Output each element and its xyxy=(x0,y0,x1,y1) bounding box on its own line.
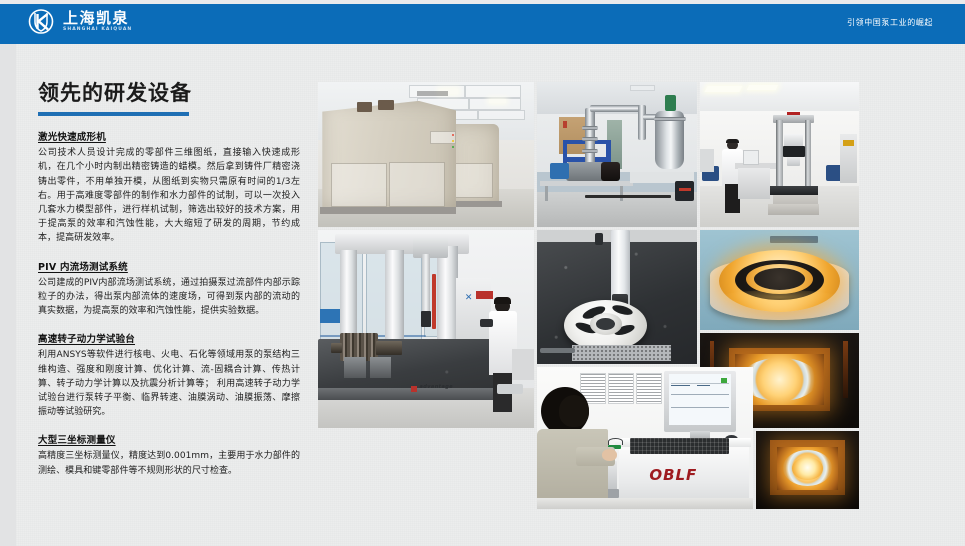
photo-cmm-impeller-scan xyxy=(537,230,697,364)
section-piv-system: PIV 内流场测试系统 公司建成的PIV内部流场测试系统，通过拍摄泵过流部件内部… xyxy=(38,259,300,319)
brand-name-en: SHANGHAI KAIQUAN xyxy=(63,28,132,33)
photo-universal-testing-machine xyxy=(700,82,859,227)
section-body: 高精度三坐标测量仪，精度达到0.001mm，主要用于水力部件的测绘、模具和键零部… xyxy=(38,449,300,477)
left-rail-strip xyxy=(0,44,16,546)
photo-laser-prototyping-machine xyxy=(318,82,534,227)
header-tagline: 引领中国泵工业的崛起 xyxy=(847,17,933,28)
oblf-brand-label: OBLF xyxy=(649,466,697,484)
section-heading: 高速转子动力学试验台 xyxy=(38,331,300,345)
section-body: 公司技术人员设计完成的零部件三维图纸，直接输入快速成形机，在几个小时内制出精密铸… xyxy=(38,146,300,246)
page-title: 领先的研发设备 xyxy=(38,82,300,105)
brand-name-cn: 上海凯泉 xyxy=(63,11,132,26)
section-laser-prototyping: 激光快速成形机 公司技术人员设计完成的零部件三维图纸，直接输入快速成形机，在几个… xyxy=(38,129,300,246)
slide-canvas: 领先的研发设备 激光快速成形机 公司技术人员设计完成的零部件三维图纸，直接输入快… xyxy=(0,44,965,546)
section-heading: PIV 内流场测试系统 xyxy=(38,259,300,273)
section-heading: 激光快速成形机 xyxy=(38,129,300,143)
slide-page: 上海凯泉 SHANGHAI KAIQUAN 引领中国泵工业的崛起 领先的研发设备… xyxy=(0,0,965,546)
section-cmm: 大型三坐标测量仪 高精度三坐标测量仪，精度达到0.001mm，主要用于水力部件的… xyxy=(38,432,300,477)
header-top-edge xyxy=(0,0,965,4)
photo-oblf-spectrometer: OBLF xyxy=(537,367,753,509)
title-underline-rule xyxy=(38,112,189,116)
photo-furnace-glow-wide xyxy=(756,431,859,509)
photo-grid: ✕ advantage xyxy=(318,82,918,509)
photo-piv-test-rig xyxy=(537,82,697,227)
brand-logo[interactable]: 上海凯泉 SHANGHAI KAIQUAN xyxy=(26,7,132,37)
page-header: 上海凯泉 SHANGHAI KAIQUAN 引领中国泵工业的崛起 xyxy=(0,0,965,44)
photo-large-cmm-rotor: ✕ advantage xyxy=(318,230,534,428)
photo-glowing-impeller-mold xyxy=(700,230,859,330)
brand-logo-text: 上海凯泉 SHANGHAI KAIQUAN xyxy=(63,11,132,33)
section-body: 利用ANSYS等软件进行核电、火电、石化等领域用泵的泵结构三维构造、强度和刚度计… xyxy=(38,348,300,419)
kaiquan-circle-logo-icon xyxy=(26,7,56,37)
section-body: 公司建成的PIV内部流场测试系统，通过拍摄泵过流部件内部示踪粒子的办法，得出泵内… xyxy=(38,276,300,319)
section-heading: 大型三坐标测量仪 xyxy=(38,432,300,446)
section-rotor-dynamics-testbed: 高速转子动力学试验台 利用ANSYS等软件进行核电、火电、石化等领域用泵的泵结构… xyxy=(38,331,300,419)
text-column: 领先的研发设备 激光快速成形机 公司技术人员设计完成的零部件三维图纸，直接输入快… xyxy=(38,82,300,478)
